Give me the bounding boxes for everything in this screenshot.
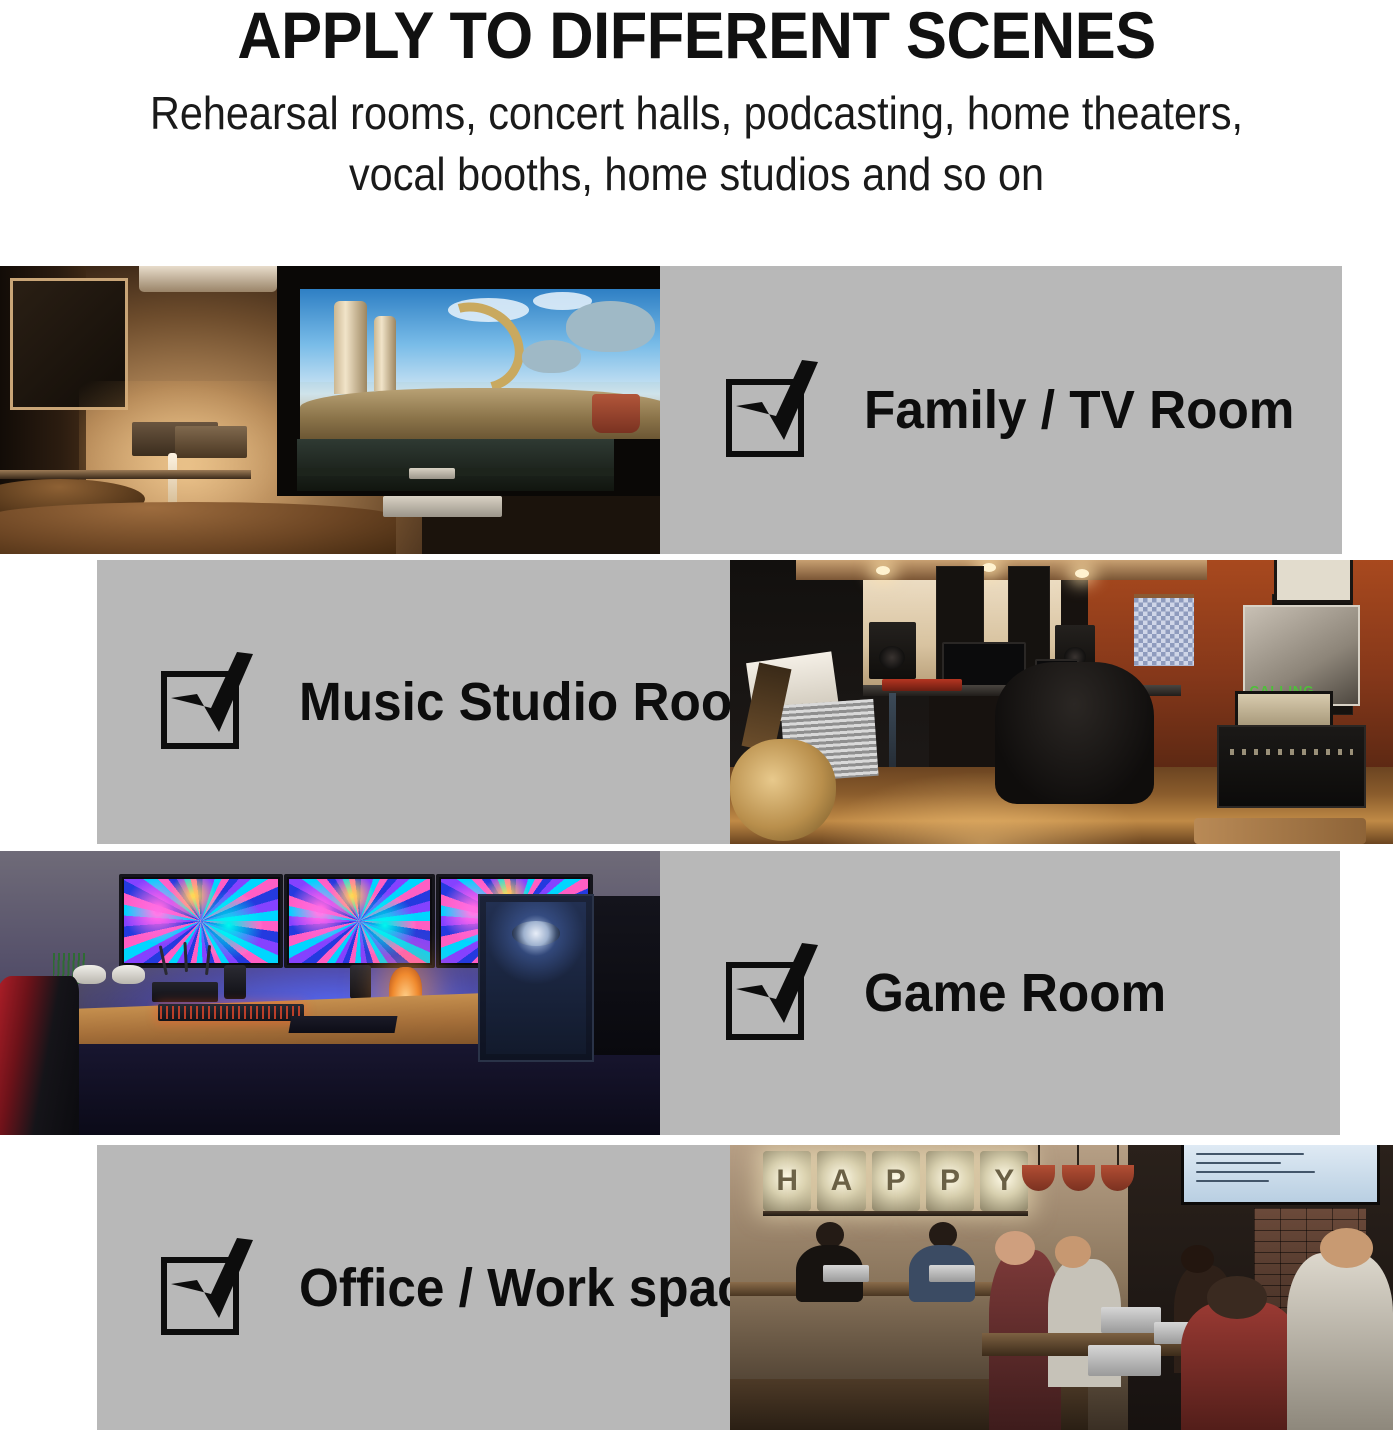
midi-keyboard xyxy=(882,679,962,690)
lamp-stem xyxy=(168,453,177,505)
scene-label: Game Room xyxy=(864,962,1166,1024)
marquee-letter: Y xyxy=(980,1151,1028,1211)
wall-hanging xyxy=(1134,594,1194,666)
happy-marquee-sign: H A P P Y xyxy=(763,1151,1028,1211)
dining-table xyxy=(0,502,396,554)
monitor-left xyxy=(119,874,283,968)
media-stand xyxy=(297,439,614,491)
screen-text-line xyxy=(1196,1171,1315,1173)
home-theater-scene xyxy=(0,266,660,554)
label-panel-office-work-space: Office / Work space xyxy=(97,1145,790,1430)
scene-label: Family / TV Room xyxy=(864,379,1294,441)
person-head xyxy=(929,1222,957,1248)
screen-text-line xyxy=(1196,1153,1304,1155)
mechanical-keyboard xyxy=(158,1004,303,1021)
label-panel-game-room: Game Room xyxy=(660,851,1340,1135)
projection-screen xyxy=(300,289,660,439)
av-receiver xyxy=(383,496,502,516)
second-tower xyxy=(587,896,660,1055)
glass-pc-tower xyxy=(478,894,594,1063)
monitor-wallpaper xyxy=(289,879,430,963)
screen-pot xyxy=(592,394,640,433)
long-table-back xyxy=(730,1282,1035,1296)
laptop xyxy=(1101,1307,1161,1333)
monitor-center xyxy=(284,874,435,968)
game-controller xyxy=(112,965,145,985)
subtitle-line-1: Rehearsal rooms, concert halls, podcasti… xyxy=(70,83,1324,144)
person-head xyxy=(1055,1236,1091,1267)
gaming-chair xyxy=(0,976,79,1135)
monitor-wallpaper xyxy=(124,879,278,963)
photo-family-tv-room xyxy=(0,266,660,554)
person-head xyxy=(816,1222,844,1248)
guitar-body xyxy=(730,739,836,841)
lamp-shade-right xyxy=(175,426,248,458)
person-head xyxy=(1207,1276,1267,1319)
floor-rug xyxy=(1194,818,1366,844)
ceiling-spotlight xyxy=(1075,569,1089,578)
checkbox-checked-icon xyxy=(157,650,261,754)
marquee-letter: H xyxy=(763,1151,811,1211)
scene-label: Music Studio Room xyxy=(299,671,778,733)
scene-row-family-tv-room: Family / TV Room xyxy=(0,266,1393,554)
presentation-screen xyxy=(1181,1145,1379,1205)
header: APPLY TO DIFFERENT SCENES Rehearsal room… xyxy=(0,0,1393,250)
photo-music-studio-room: CALLING xyxy=(730,560,1393,844)
game-controller xyxy=(73,965,106,985)
marquee-letter: P xyxy=(926,1151,974,1211)
cpu-cooler-fan xyxy=(512,921,560,945)
pc-interior xyxy=(486,902,586,1055)
checkbox-checked-icon xyxy=(157,1236,261,1340)
marquee-letter: A xyxy=(817,1151,865,1211)
scene-row-office-work-space: Office / Work space H A P P Y xyxy=(0,1145,1393,1430)
scene-label: Office / Work space xyxy=(299,1257,774,1319)
person-seated-right xyxy=(1287,1253,1393,1430)
media-shelf xyxy=(297,468,614,477)
person-head xyxy=(1320,1228,1373,1268)
rack-gear xyxy=(1217,725,1367,809)
page-subtitle: Rehearsal rooms, concert halls, podcasti… xyxy=(70,69,1324,204)
screen-tower xyxy=(334,301,367,394)
game-room-scene xyxy=(0,851,660,1135)
wifi-router xyxy=(152,982,218,1002)
screen-text-line xyxy=(1196,1162,1281,1164)
laptop xyxy=(1088,1345,1161,1376)
studio-monitor-left xyxy=(869,622,915,679)
ceiling xyxy=(796,560,1207,580)
office-chair xyxy=(995,662,1154,804)
media-player xyxy=(409,468,455,480)
office-scene: H A P P Y xyxy=(730,1145,1393,1430)
photo-game-room xyxy=(0,851,660,1135)
console-table xyxy=(0,470,251,479)
framed-picture xyxy=(1274,560,1353,603)
person-head xyxy=(1181,1245,1214,1274)
desk-speaker-left xyxy=(224,965,245,999)
screen-text-line xyxy=(1196,1180,1269,1182)
mouse-pad xyxy=(289,1016,398,1033)
label-panel-music-studio-room: Music Studio Room xyxy=(97,560,790,844)
marquee-mount-bar xyxy=(763,1211,1028,1216)
ceiling-spotlight xyxy=(982,563,996,572)
photo-office-work-space: H A P P Y xyxy=(730,1145,1393,1430)
marquee-letter: P xyxy=(872,1151,920,1211)
checkbox-checked-icon xyxy=(722,941,826,1045)
laptop xyxy=(929,1265,975,1282)
screen-tower xyxy=(374,316,396,391)
laptop xyxy=(823,1265,869,1282)
checkbox-checked-icon xyxy=(722,358,826,462)
page-title: APPLY TO DIFFERENT SCENES xyxy=(49,0,1344,69)
desk-speaker-right xyxy=(350,965,371,999)
music-studio-scene: CALLING xyxy=(730,560,1393,844)
label-panel-family-tv-room: Family / TV Room xyxy=(660,266,1342,554)
screen-machine xyxy=(522,340,581,373)
air-conditioner xyxy=(139,266,278,292)
ceiling-spotlight xyxy=(876,566,890,575)
amp-knobs xyxy=(1230,749,1353,755)
person-head xyxy=(995,1231,1035,1265)
person-back-facing xyxy=(1181,1302,1300,1430)
subtitle-line-2: vocal booths, home studios and so on xyxy=(70,144,1324,205)
scene-row-game-room: Game Room xyxy=(0,851,1393,1135)
screen-machine xyxy=(566,301,655,352)
scene-row-music-studio-room: Music Studio Room xyxy=(0,560,1393,844)
